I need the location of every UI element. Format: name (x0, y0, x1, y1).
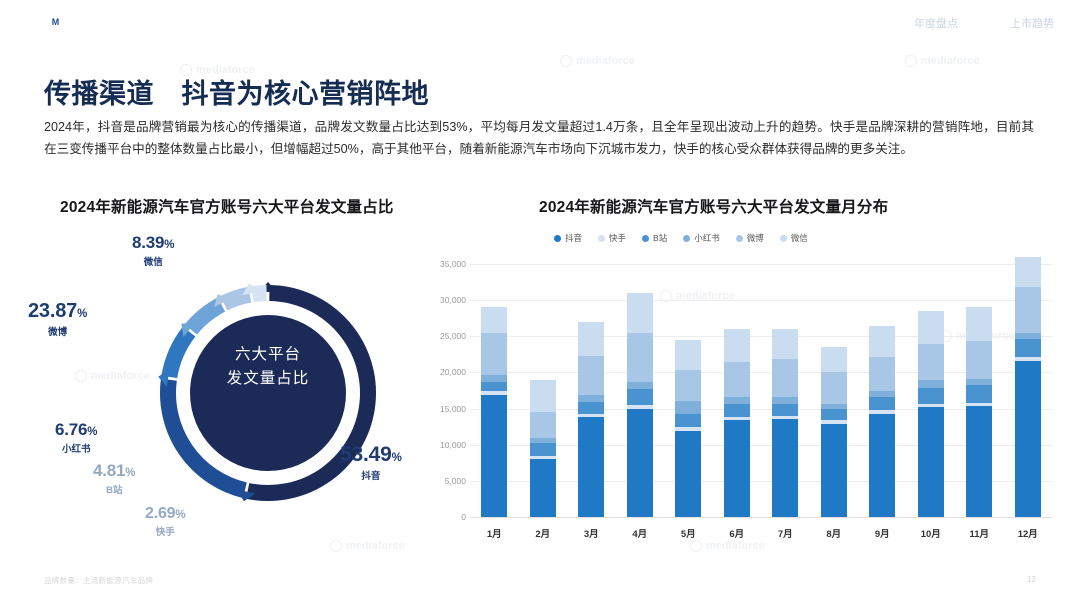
legend-dot-icon-0 (554, 235, 561, 242)
bar-segment-10月-B站 (918, 388, 944, 404)
bar-segment-1月-抖音 (481, 395, 507, 517)
donut-label-value-4: 4.81 (93, 461, 125, 480)
bar-chart-plot-area: 05,00010,00015,00020,00025,00030,00035,0… (470, 264, 1052, 517)
watermark: mediaforce (560, 55, 635, 67)
bar-segment-12月-微博 (1015, 287, 1041, 333)
donut-label-value-0: 53.49 (340, 443, 392, 466)
bar-segment-7月-微博 (772, 359, 798, 397)
bar-segment-12月-抖音 (1015, 361, 1041, 517)
nav-item-annual-review[interactable]: 年度盘点 (888, 0, 984, 48)
bar-segment-6月-抖音 (724, 420, 750, 517)
legend-label-2: B站 (653, 232, 667, 244)
x-axis-tick-11月: 11月 (959, 526, 999, 540)
legend-dot-icon-1 (598, 235, 605, 242)
donut-label-name-4: B站 (93, 482, 136, 496)
bar-segment-7月-B站 (772, 404, 798, 416)
donut-label-name-5: 快手 (145, 524, 186, 538)
bar-column-3月[interactable] (578, 322, 604, 517)
donut-label-5: 2.69%快手 (145, 505, 186, 538)
bar-segment-11月-抖音 (966, 406, 992, 517)
bar-column-1月[interactable] (481, 307, 507, 517)
donut-center-line-1: 六大平台 (193, 343, 343, 367)
legend-item-小红书[interactable]: 小红书 (683, 232, 720, 244)
nav-item-marketing-status[interactable]: 营销情况 (792, 0, 888, 48)
donut-inner-disc (190, 315, 346, 471)
gridline-15000 (470, 409, 1052, 410)
footer-note: 品牌数量：主流新能源汽车品牌 (44, 575, 153, 586)
donut-chart-title: 2024年新能源汽车官方账号六大平台发文量占比 (60, 195, 394, 217)
bar-column-4月[interactable] (627, 293, 653, 517)
legend-item-微信[interactable]: 微信 (780, 232, 808, 244)
brand-logo-mark-icon: M (47, 14, 64, 31)
bar-column-11月[interactable] (966, 307, 992, 517)
donut-segment-3[interactable] (191, 305, 222, 330)
bar-segment-9月-微信 (869, 326, 895, 358)
bar-column-7月[interactable] (772, 329, 798, 517)
donut-label-percent-4: % (125, 467, 135, 479)
nav-item-market-trend[interactable]: 上市趋势 (984, 0, 1080, 48)
page-title: 传播渠道 抖音为核心营销阵地 (44, 72, 429, 111)
donut-label-percent-2: % (164, 239, 174, 251)
y-axis-tick-30000: 30,000 (406, 295, 466, 305)
bar-chart-legend: 抖音快手B站小红书微博微信 (554, 232, 808, 244)
donut-segment-2[interactable] (169, 332, 189, 377)
x-axis-tick-6月: 6月 (717, 526, 757, 540)
bar-segment-2月-微博 (530, 412, 556, 437)
nav-item-industry-overview[interactable]: 行业概况 (696, 0, 792, 48)
bar-segment-10月-微信 (918, 311, 944, 344)
legend-label-4: 微博 (747, 232, 764, 244)
x-axis-tick-9月: 9月 (862, 526, 902, 540)
donut-label-percent-0: % (392, 452, 402, 464)
header-highlight-2 (470, 0, 516, 48)
legend-label-0: 抖音 (565, 232, 582, 244)
donut-label-percent-1: % (77, 308, 87, 320)
bar-segment-10月-微博 (918, 344, 944, 380)
gridline-30000 (470, 300, 1052, 301)
bar-segment-3月-抖音 (578, 417, 604, 517)
donut-label-name-2: 微信 (132, 254, 175, 268)
x-axis-tick-10月: 10月 (911, 526, 951, 540)
bar-segment-3月-小红书 (578, 395, 604, 402)
y-axis-tick-25000: 25,000 (406, 331, 466, 341)
bar-segment-11月-微信 (966, 307, 992, 340)
slide-root: M mediaforce 行业概况 营销情况 年度盘点 上市趋势 mediafo… (0, 0, 1080, 608)
legend-label-5: 微信 (791, 232, 808, 244)
bar-segment-11月-B站 (966, 385, 992, 402)
legend-item-B站[interactable]: B站 (642, 232, 667, 244)
bar-segment-6月-微信 (724, 329, 750, 362)
x-axis-tick-1月: 1月 (474, 526, 514, 540)
bar-chart-title: 2024年新能源汽车官方账号六大平台发文量月分布 (539, 195, 888, 217)
bar-segment-8月-微博 (821, 372, 847, 404)
donut-label-percent-3: % (87, 426, 97, 438)
bar-segment-4月-微博 (627, 333, 653, 382)
x-axis-tick-5月: 5月 (668, 526, 708, 540)
y-axis-tick-5000: 5,000 (406, 476, 466, 486)
x-axis-tick-3月: 3月 (571, 526, 611, 540)
x-axis-tick-8月: 8月 (814, 526, 854, 540)
bar-segment-12月-微信 (1015, 257, 1041, 287)
y-axis-tick-15000: 15,000 (406, 404, 466, 414)
bar-segment-1月-微博 (481, 333, 507, 374)
gridline-0 (470, 517, 1052, 518)
watermark-mark-icon (560, 55, 572, 67)
donut-label-1: 23.87%微博 (28, 300, 87, 338)
donut-label-4: 4.81%B站 (93, 461, 136, 496)
gridline-35000 (470, 264, 1052, 265)
watermark-mark-icon (905, 55, 917, 67)
bar-segment-6月-微博 (724, 362, 750, 397)
y-axis-tick-35000: 35,000 (406, 259, 466, 269)
bar-segment-8月-抖音 (821, 424, 847, 517)
brand-logo-text: mediaforce (70, 15, 145, 31)
donut-label-2: 8.39%微信 (132, 233, 175, 268)
donut-center-line-2: 发文量占比 (193, 367, 343, 391)
wheel-spoke-icon (686, 0, 688, 48)
bar-segment-5月-抖音 (675, 431, 701, 517)
bar-column-5月[interactable] (675, 340, 701, 517)
y-axis-tick-0: 0 (406, 512, 466, 522)
donut-label-value-3: 6.76 (55, 420, 87, 439)
bar-segment-8月-微信 (821, 347, 847, 372)
donut-label-percent-5: % (175, 509, 185, 521)
bar-column-6月[interactable] (724, 329, 750, 517)
bar-segment-2月-B站 (530, 443, 556, 455)
brand-logo: M mediaforce (47, 14, 145, 31)
bar-segment-7月-抖音 (772, 419, 798, 517)
donut-center-label: 六大平台 发文量占比 (193, 343, 343, 391)
bar-segment-1月-微信 (481, 307, 507, 333)
legend-dot-icon-5 (780, 235, 787, 242)
gridline-25000 (470, 336, 1052, 337)
bar-segment-2月-微信 (530, 380, 556, 412)
donut-label-name-3: 小红书 (55, 441, 98, 455)
x-axis-tick-12月: 12月 (1008, 526, 1048, 540)
bar-segment-5月-微博 (675, 370, 701, 401)
y-axis-tick-20000: 20,000 (406, 367, 466, 377)
legend-dot-icon-4 (736, 235, 743, 242)
donut-segment-5[interactable] (253, 293, 267, 294)
bar-segment-8月-B站 (821, 409, 847, 420)
watermark: mediaforce (905, 55, 980, 67)
bar-segment-4月-抖音 (627, 409, 653, 517)
gridline-20000 (470, 372, 1052, 373)
donut-label-3: 6.76%小红书 (55, 420, 98, 455)
bar-segment-1月-B站 (481, 382, 507, 391)
bar-segment-10月-抖音 (918, 407, 944, 517)
bar-column-10月[interactable] (918, 311, 944, 517)
bar-segment-12月-B站 (1015, 339, 1041, 356)
bar-segment-9月-抖音 (869, 414, 895, 517)
gridline-10000 (470, 445, 1052, 446)
bar-chart: 抖音快手B站小红书微博微信 05,00010,00015,00020,00025… (424, 222, 1064, 552)
legend-item-快手[interactable]: 快手 (598, 232, 626, 244)
donut-label-name-0: 抖音 (340, 468, 402, 482)
top-navigation: 行业概况 营销情况 年度盘点 上市趋势 (696, 0, 1080, 48)
bar-segment-10月-小红书 (918, 380, 944, 387)
footer-page-number: 12 (1027, 575, 1036, 584)
x-axis-tick-2月: 2月 (523, 526, 563, 540)
watermark-text: mediaforce (921, 55, 980, 67)
donut-chart: 六大平台 发文量占比 53.49%抖音23.87%微博8.39%微信6.76%小… (40, 225, 470, 555)
bar-segment-4月-微信 (627, 293, 653, 333)
bar-segment-7月-微信 (772, 329, 798, 359)
donut-label-0: 53.49%抖音 (340, 443, 402, 482)
legend-label-1: 快手 (609, 232, 626, 244)
bar-segment-9月-微博 (869, 357, 895, 391)
page-paragraph: 2024年，抖音是品牌营销最为核心的传播渠道，品牌发文数量占比达到53%，平均每… (44, 116, 1034, 160)
donut-label-value-5: 2.69 (145, 505, 175, 522)
donut-label-name-1: 微博 (28, 324, 87, 338)
gridline-5000 (470, 481, 1052, 482)
x-axis-tick-4月: 4月 (620, 526, 660, 540)
legend-dot-icon-2 (642, 235, 649, 242)
bar-segment-5月-微信 (675, 340, 701, 370)
bar-column-9月[interactable] (869, 326, 895, 518)
bar-segment-9月-B站 (869, 397, 895, 410)
donut-label-value-1: 23.87 (28, 300, 77, 322)
legend-item-抖音[interactable]: 抖音 (554, 232, 582, 244)
bar-segment-3月-微信 (578, 322, 604, 356)
donut-label-value-2: 8.39 (132, 233, 164, 252)
bar-segment-11月-微博 (966, 341, 992, 379)
bar-column-8月[interactable] (821, 347, 847, 517)
bar-segment-6月-B站 (724, 404, 750, 417)
bar-segment-4月-B站 (627, 389, 653, 405)
slide-header: M mediaforce 行业概况 营销情况 年度盘点 上市趋势 (0, 0, 1080, 48)
header-highlight (320, 0, 469, 48)
watermark-text: mediaforce (576, 55, 635, 67)
bar-column-12月[interactable] (1015, 257, 1041, 517)
bar-segment-2月-抖音 (530, 459, 556, 517)
bar-segment-3月-微博 (578, 356, 604, 395)
bar-segment-4月-小红书 (627, 382, 653, 389)
legend-item-微博[interactable]: 微博 (736, 232, 764, 244)
y-axis-tick-10000: 10,000 (406, 440, 466, 450)
bar-segment-3月-B站 (578, 402, 604, 414)
bar-segment-5月-B站 (675, 414, 701, 428)
bar-segment-5月-小红书 (675, 401, 701, 413)
bar-segment-1月-小红书 (481, 375, 507, 382)
x-axis-tick-7月: 7月 (765, 526, 805, 540)
bar-column-2月[interactable] (530, 380, 556, 517)
legend-label-3: 小红书 (694, 232, 720, 244)
legend-dot-icon-3 (683, 235, 690, 242)
